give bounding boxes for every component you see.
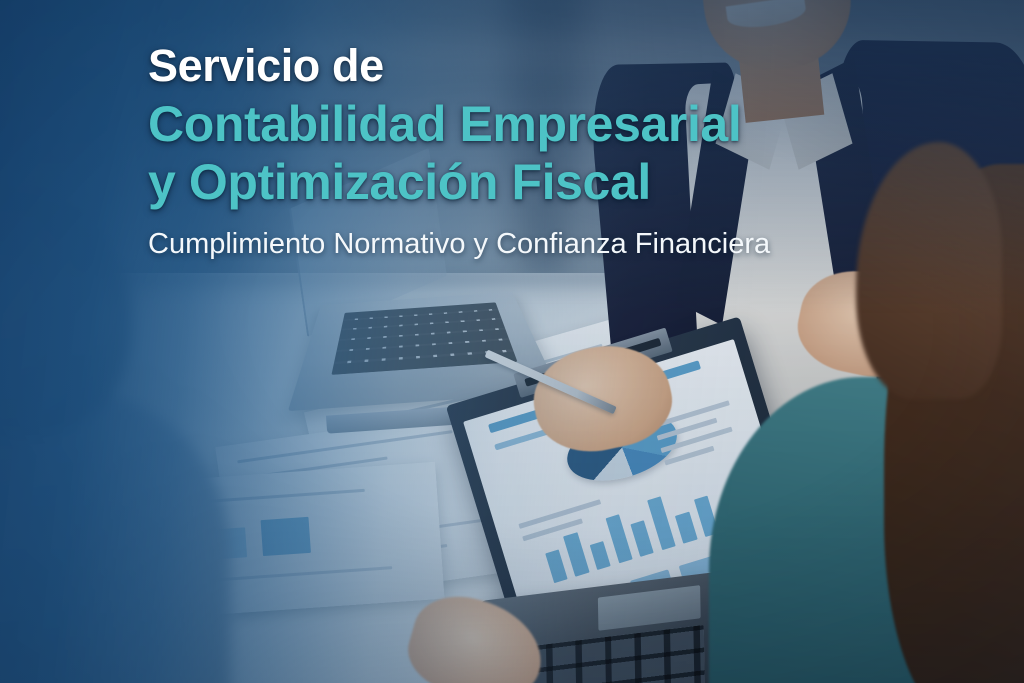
eyebrow-text: Servicio de — [148, 38, 908, 94]
headline-block: Servicio de Contabilidad Empresarial y O… — [148, 38, 908, 291]
subtitle-text: Cumplimiento Normativo y Confianza Finan… — [148, 226, 908, 262]
headline-line-2: y Optimización Fiscal — [148, 152, 908, 212]
headline-line-1: Contabilidad Empresarial — [148, 94, 908, 154]
promotional-banner: Servicio de Contabilidad Empresarial y O… — [0, 0, 1024, 683]
